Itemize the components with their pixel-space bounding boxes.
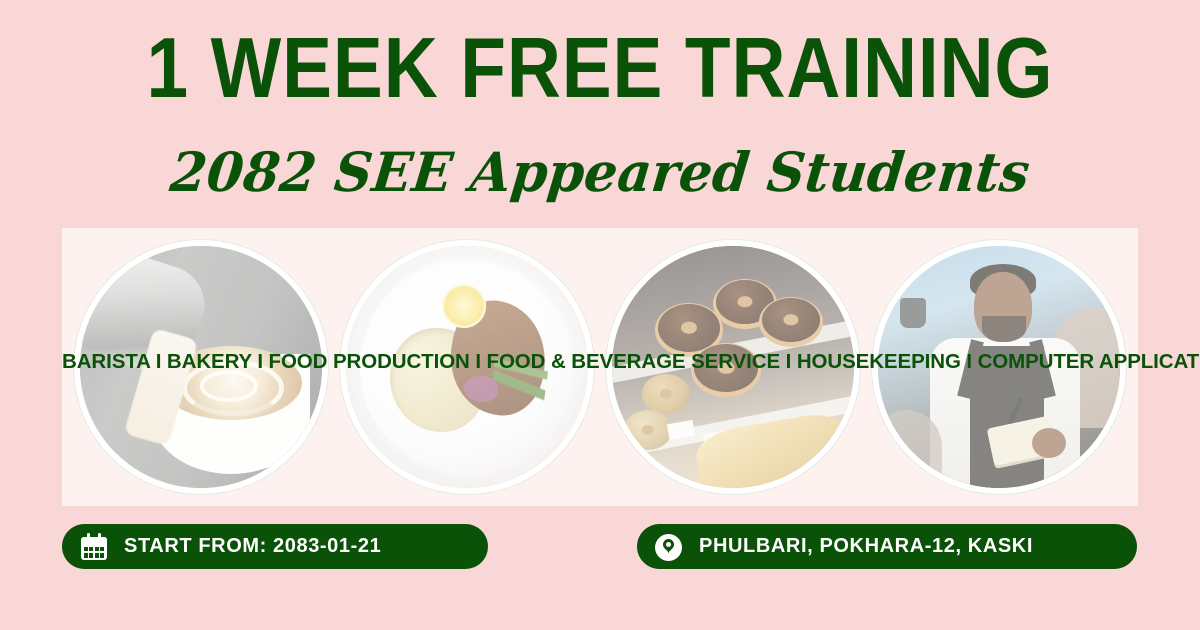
location-pin-icon (655, 533, 683, 561)
course-list: BARISTA I BAKERY I FOOD PRODUCTION I FOO… (62, 352, 1138, 373)
calendar-icon (80, 533, 108, 561)
location-label: PHULBARI, POKHARA-12, KASKI (699, 535, 1033, 558)
promo-banner: 1 WEEK FREE TRAINING 2082 SEE Appeared S… (0, 0, 1200, 630)
page-title: 1 WEEK FREE TRAINING (72, 26, 1128, 111)
start-date-badge: START FROM: 2083-01-21 (62, 524, 488, 569)
page-subtitle: 2082 SEE Appeared Students (15, 144, 1185, 201)
location-badge: PHULBARI, POKHARA-12, KASKI (637, 524, 1137, 569)
start-date-label: START FROM: 2083-01-21 (124, 535, 381, 558)
